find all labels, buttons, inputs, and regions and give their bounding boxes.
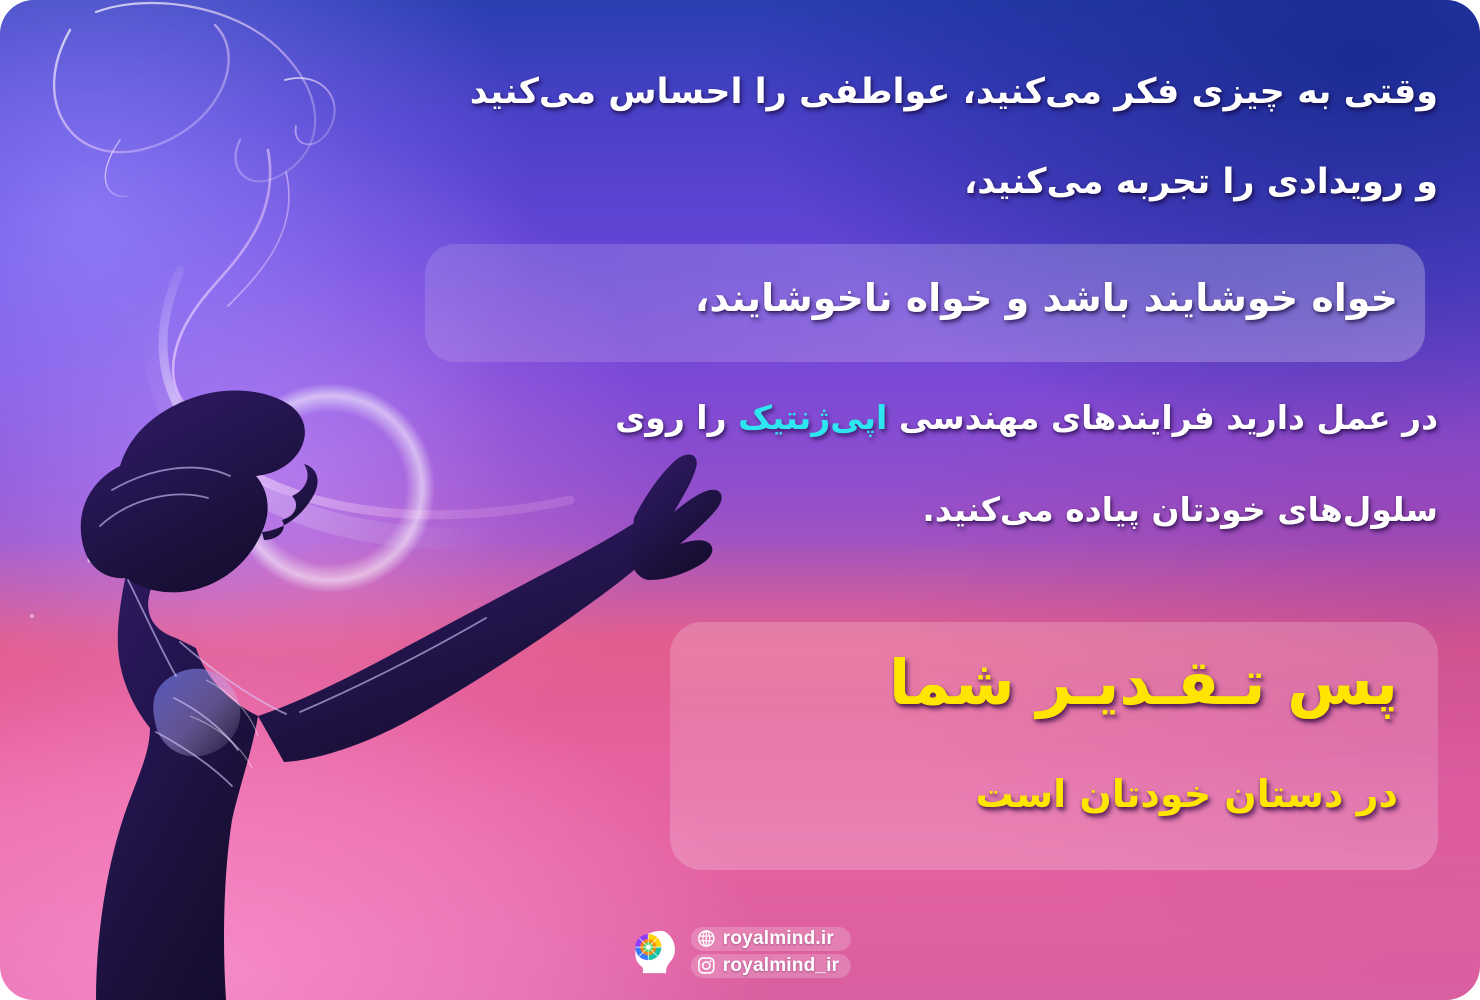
epigenetics-highlight-term: اپی‌ژنتیک: [738, 398, 887, 437]
instagram-label: royalmind_ir: [723, 955, 839, 977]
paragraph1-line2: و رویدادی را تجربه می‌کنید،: [964, 162, 1438, 202]
paragraph2-line1-before: در عمل دارید فرایندهای مهندسی: [887, 398, 1438, 437]
website-label: royalmind.ir: [723, 928, 834, 950]
instagram-icon: [697, 956, 716, 975]
paragraph1-line1: وقتی به چیزی فکر می‌کنید، عواطفی را احسا…: [470, 72, 1438, 112]
conclusion-line1: پس تـقـدیـر شما: [889, 646, 1398, 719]
conclusion-line2: در دستان خودتان است: [976, 772, 1398, 816]
paragraph2-line1-after: را روی: [615, 398, 738, 437]
instagram-handle[interactable]: royalmind_ir: [691, 954, 851, 978]
social-handles: royalmind.ir royalmind_ir: [691, 927, 851, 978]
poster-text-content: وقتی به چیزی فکر می‌کنید، عواطفی را احسا…: [0, 0, 1480, 1000]
footer-brand-bar: royalmind.ir royalmind_ir: [629, 926, 851, 978]
poster-canvas: وقتی به چیزی فکر می‌کنید، عواطفی را احسا…: [0, 0, 1480, 1000]
website-handle[interactable]: royalmind.ir: [691, 927, 851, 951]
globe-icon: [697, 929, 716, 948]
emphasis-line1: خواه خوشایند باشد و خواه ناخوشایند،: [695, 276, 1398, 320]
paragraph2-line1: در عمل دارید فرایندهای مهندسی اپی‌ژنتیک …: [615, 398, 1438, 437]
brain-head-logo-icon: [629, 926, 681, 978]
paragraph2-line2: سلول‌های خودتان پیاده می‌کنید.: [922, 490, 1438, 529]
